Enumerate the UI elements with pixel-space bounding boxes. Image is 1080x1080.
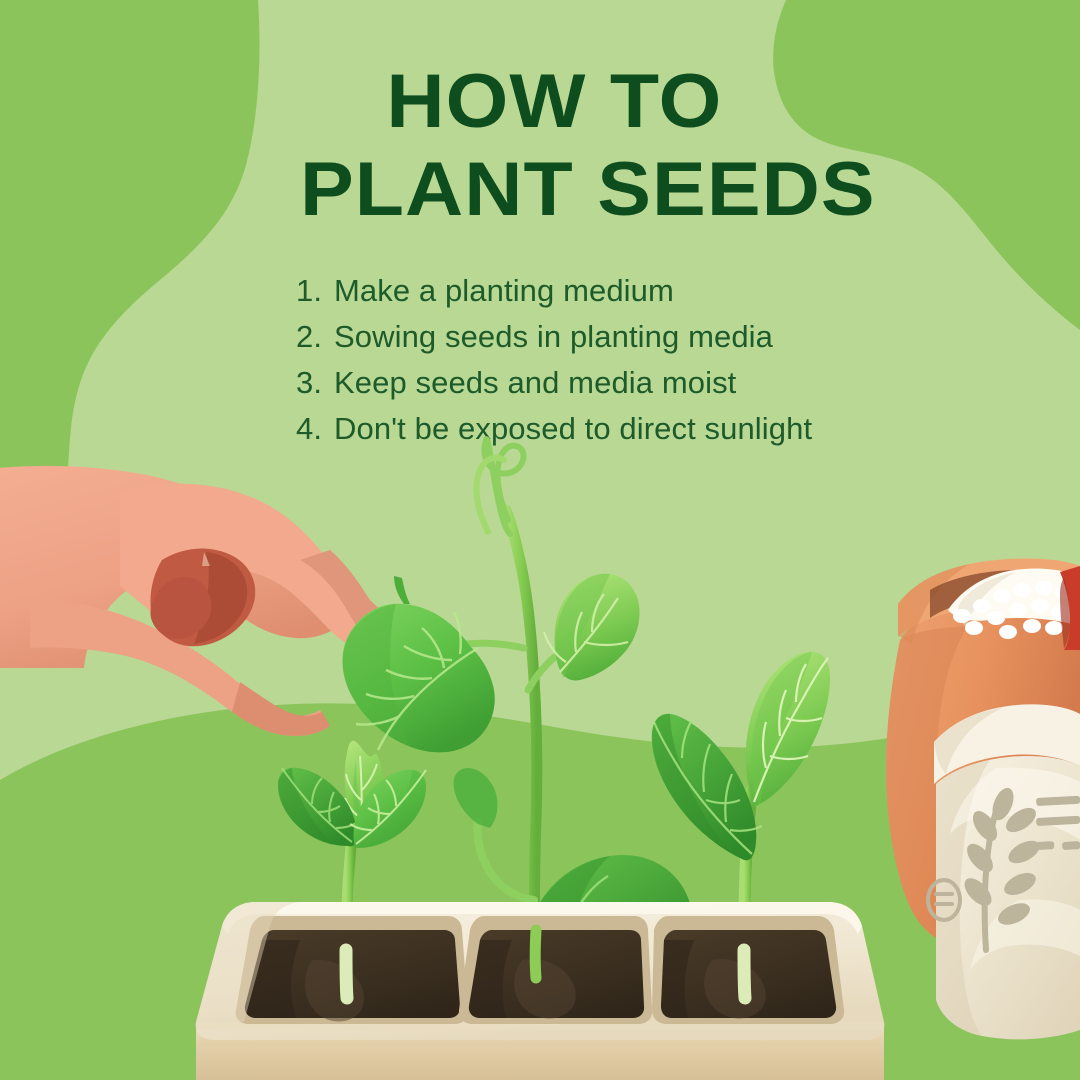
step-text: Sowing seeds in planting media bbox=[334, 314, 773, 360]
infographic-poster: HOW TO PLANT SEEDS 1. Make a planting me… bbox=[0, 0, 1080, 1080]
step-number: 1. bbox=[296, 268, 334, 314]
step-number: 4. bbox=[296, 406, 334, 452]
list-item: 3. Keep seeds and media moist bbox=[296, 360, 812, 406]
list-item: 1. Make a planting medium bbox=[296, 268, 812, 314]
step-text: Keep seeds and media moist bbox=[334, 360, 736, 406]
step-text: Don't be exposed to direct sunlight bbox=[334, 406, 812, 452]
text-layer: HOW TO PLANT SEEDS 1. Make a planting me… bbox=[0, 0, 1080, 1080]
list-item: 2. Sowing seeds in planting media bbox=[296, 314, 812, 360]
title-line-one: HOW TO bbox=[300, 60, 809, 144]
title-line-two: PLANT SEEDS bbox=[300, 148, 1042, 232]
steps-list: 1. Make a planting medium 2. Sowing seed… bbox=[296, 268, 812, 452]
step-text: Make a planting medium bbox=[334, 268, 674, 314]
step-number: 2. bbox=[296, 314, 334, 360]
step-number: 3. bbox=[296, 360, 334, 406]
list-item: 4. Don't be exposed to direct sunlight bbox=[296, 406, 812, 452]
page-title: HOW TO PLANT SEEDS bbox=[300, 60, 1000, 232]
